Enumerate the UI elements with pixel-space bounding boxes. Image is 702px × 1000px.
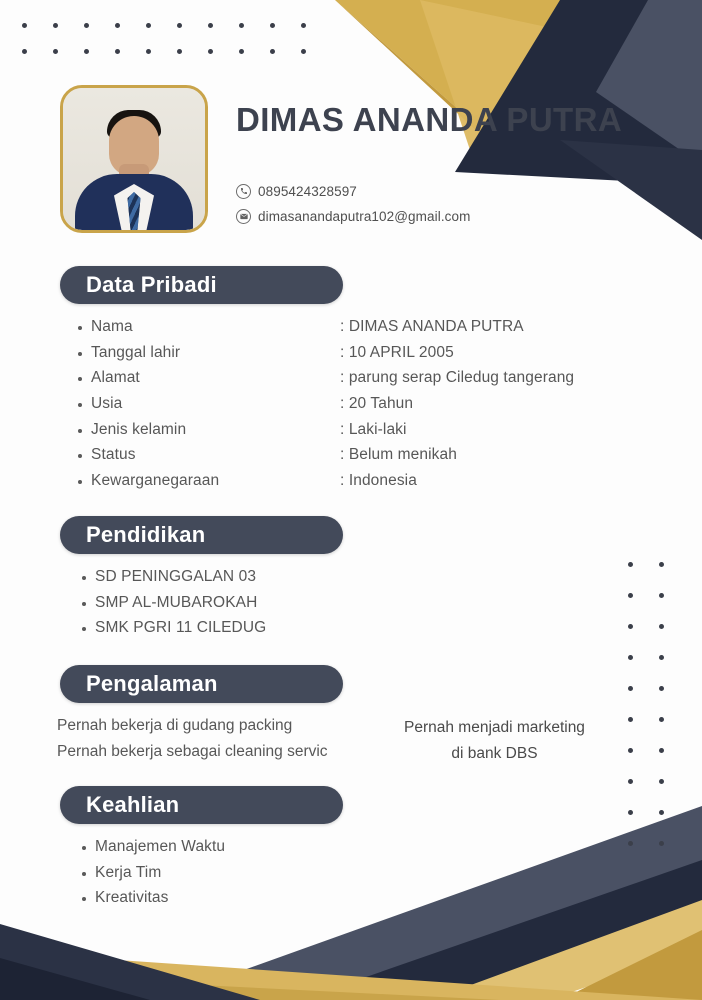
dot [659, 779, 664, 784]
row-label: Usia [78, 395, 340, 413]
bullet-icon [78, 480, 82, 484]
table-row: Status : Belum menikah [78, 446, 668, 472]
dot [208, 49, 213, 54]
bullet-icon [78, 454, 82, 458]
dot [628, 810, 633, 815]
dot-grid-top-left [22, 23, 332, 75]
dot [659, 655, 664, 660]
phone-icon [236, 184, 251, 199]
experience-line: di bank DBS [404, 745, 585, 771]
section-title: Data Pribadi [86, 272, 217, 298]
email-address: dimasanandaputra102@gmail.com [258, 209, 470, 224]
list-item: SMP AL-MUBAROKAH [82, 594, 266, 620]
dot [270, 23, 275, 28]
row-value: : Indonesia [340, 472, 417, 490]
list-item-label: SMP AL-MUBAROKAH [95, 594, 257, 612]
bottom-left-gold-band [0, 952, 702, 1000]
list-item-label: Kerja Tim [95, 864, 161, 882]
pendidikan-list: SD PENINGGALAN 03 SMP AL-MUBAROKAH SMK P… [82, 568, 266, 645]
bottom-gold-band-dark [560, 930, 702, 1000]
dot [115, 23, 120, 28]
table-row: Nama : DIMAS ANANDA PUTRA [78, 318, 668, 344]
dot [208, 23, 213, 28]
bullet-icon [82, 602, 86, 606]
data-pribadi-table: Nama : DIMAS ANANDA PUTRA Tanggal lahir … [78, 318, 668, 498]
dot [53, 23, 58, 28]
dot [659, 686, 664, 691]
contact-block: 0895424328597 dimasanandaputra102@gmail.… [236, 180, 470, 230]
bullet-icon [82, 627, 86, 631]
dot [177, 23, 182, 28]
experience-line: Pernah bekerja di gudang packing [57, 717, 328, 743]
dot [628, 748, 633, 753]
dot [301, 49, 306, 54]
label-text: Jenis kelamin [91, 421, 186, 439]
pengalaman-right-block: Pernah menjadi marketing di bank DBS [404, 719, 585, 770]
profile-photo [60, 85, 208, 233]
dot [628, 655, 633, 660]
bottom-gold-band-light [430, 900, 702, 1000]
section-header-pengalaman: Pengalaman [60, 665, 343, 703]
bottom-navy-dark-band [300, 860, 702, 1000]
section-title: Pendidikan [86, 522, 205, 548]
bullet-icon [78, 429, 82, 433]
bottom-left-navy-wedge [0, 924, 260, 1000]
list-item-label: Manajemen Waktu [95, 838, 225, 856]
table-row: Kewarganegaraan : Indonesia [78, 472, 668, 498]
row-value: : DIMAS ANANDA PUTRA [340, 318, 524, 336]
row-label: Alamat [78, 369, 340, 387]
table-row: Tanggal lahir : 10 APRIL 2005 [78, 344, 668, 370]
cv-page: DIMAS ANANDA PUTRA 0895424328597 dimasan… [0, 0, 702, 1000]
label-text: Status [91, 446, 136, 464]
dot [628, 593, 633, 598]
label-text: Alamat [91, 369, 140, 387]
dot [659, 841, 664, 846]
section-title: Keahlian [86, 792, 179, 818]
dot [146, 49, 151, 54]
bullet-icon [82, 846, 86, 850]
keahlian-list: Manajemen Waktu Kerja Tim Kreativitas [82, 838, 225, 915]
dot [115, 49, 120, 54]
bullet-icon [82, 872, 86, 876]
bullet-icon [78, 403, 82, 407]
list-item-label: SMK PGRI 11 CILEDUG [95, 619, 266, 637]
experience-line: Pernah menjadi marketing [404, 719, 585, 745]
dot [628, 717, 633, 722]
page-title: DIMAS ANANDA PUTRA [236, 101, 622, 139]
dot [239, 23, 244, 28]
table-row: Jenis kelamin : Laki-laki [78, 421, 668, 447]
label-text: Kewarganegaraan [91, 472, 219, 490]
label-text: Nama [91, 318, 133, 336]
dot [53, 49, 58, 54]
bullet-icon [78, 352, 82, 356]
row-label: Kewarganegaraan [78, 472, 340, 490]
dot [659, 748, 664, 753]
email-icon [236, 209, 251, 224]
list-item: Kreativitas [82, 889, 225, 915]
section-header-keahlian: Keahlian [60, 786, 343, 824]
contact-phone-row[interactable]: 0895424328597 [236, 180, 470, 202]
row-label: Tanggal lahir [78, 344, 340, 362]
top-navy-tail [560, 140, 702, 240]
bullet-icon [78, 326, 82, 330]
dot [628, 624, 633, 629]
list-item: SD PENINGGALAN 03 [82, 568, 266, 594]
dot [22, 23, 27, 28]
experience-line: Pernah bekerja sebagai cleaning servic [57, 743, 328, 769]
pengalaman-left-block: Pernah bekerja di gudang packing Pernah … [57, 717, 328, 768]
table-row: Usia : 20 Tahun [78, 395, 668, 421]
dot [177, 49, 182, 54]
dot [628, 841, 633, 846]
label-text: Tanggal lahir [91, 344, 180, 362]
list-item-label: SD PENINGGALAN 03 [95, 568, 256, 586]
dot [146, 23, 151, 28]
section-header-pendidikan: Pendidikan [60, 516, 343, 554]
row-value: : 20 Tahun [340, 395, 413, 413]
bottom-navy-slate-band [160, 806, 702, 1000]
label-text: Usia [91, 395, 122, 413]
profile-photo-image [63, 88, 205, 230]
phone-number: 0895424328597 [258, 184, 357, 199]
dot [84, 23, 89, 28]
dot [628, 562, 633, 567]
list-item: Manajemen Waktu [82, 838, 225, 864]
dot [659, 562, 664, 567]
dot [270, 49, 275, 54]
table-row: Alamat : parung serap Ciledug tangerang [78, 369, 668, 395]
top-navy-slate-shape [596, 0, 702, 165]
dot [628, 686, 633, 691]
dot [659, 593, 664, 598]
bullet-icon [82, 576, 86, 580]
dot [659, 624, 664, 629]
dot [239, 49, 244, 54]
row-value: : Belum menikah [340, 446, 457, 464]
contact-email-row[interactable]: dimasanandaputra102@gmail.com [236, 205, 470, 227]
row-label: Jenis kelamin [78, 421, 340, 439]
dot [659, 810, 664, 815]
section-header-data-pribadi: Data Pribadi [60, 266, 343, 304]
row-value: : Laki-laki [340, 421, 407, 439]
row-label: Status [78, 446, 340, 464]
dot [301, 23, 306, 28]
dot [628, 779, 633, 784]
dot [22, 49, 27, 54]
dot [84, 49, 89, 54]
list-item: Kerja Tim [82, 864, 225, 890]
dot-grid-right [628, 562, 690, 872]
bullet-icon [78, 377, 82, 381]
bottom-left-navy-dark [0, 958, 150, 1000]
list-item-label: Kreativitas [95, 889, 168, 907]
bottom-left-gold-dark [0, 975, 500, 1000]
top-navy-dark-shape [455, 0, 702, 185]
section-title: Pengalaman [86, 671, 218, 697]
dot [659, 717, 664, 722]
list-item: SMK PGRI 11 CILEDUG [82, 619, 266, 645]
row-value: : parung serap Ciledug tangerang [340, 369, 574, 387]
row-label: Nama [78, 318, 340, 336]
bullet-icon [82, 897, 86, 901]
row-value: : 10 APRIL 2005 [340, 344, 454, 362]
